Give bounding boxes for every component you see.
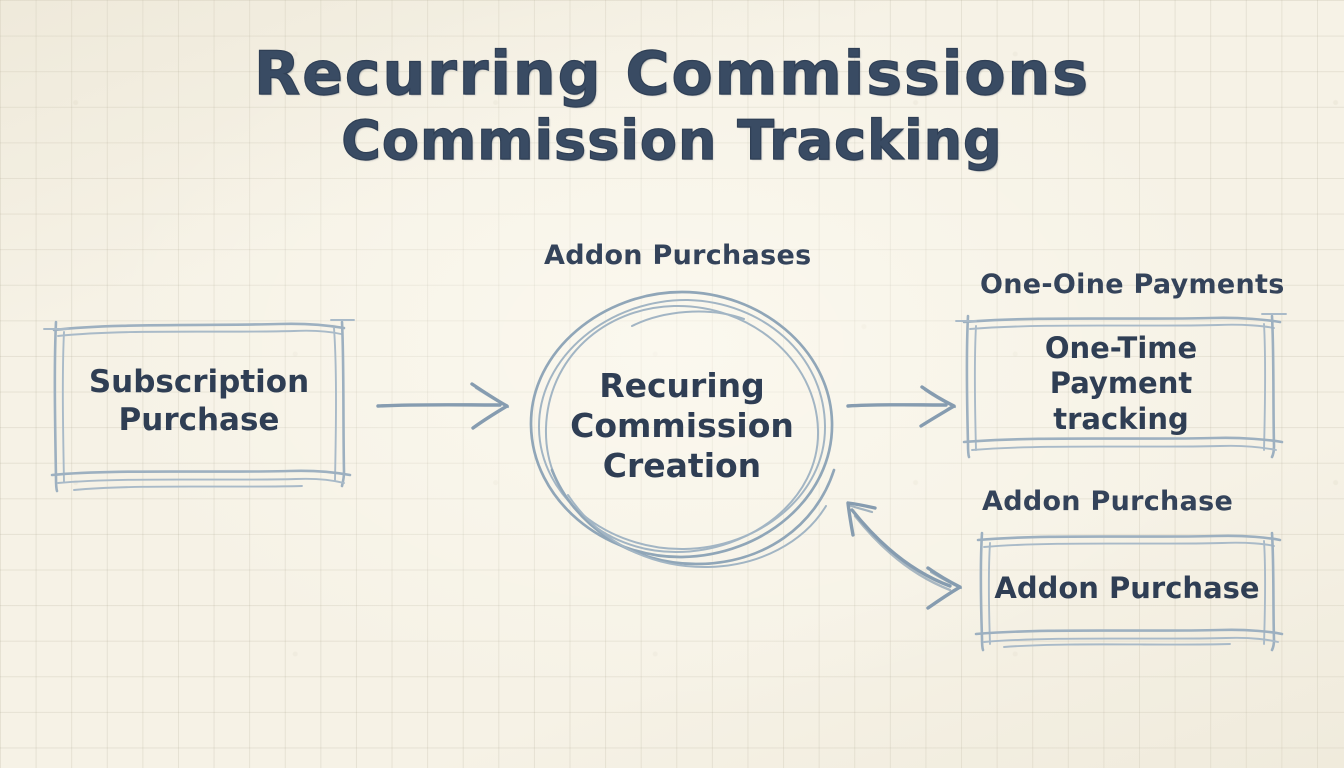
- title-line-primary: Recurring Commissions: [254, 39, 1090, 109]
- node-recurring-commission-creation-label: Recuring Commission Creation: [512, 280, 852, 572]
- caption-one-oine-payments: One-Oine Payments: [980, 269, 1285, 300]
- node-one-time-payment-tracking-label: One-Time Payment tracking: [956, 310, 1286, 458]
- caption-addon-purchases: Addon Purchases: [544, 240, 811, 271]
- arrow-recurring-to-onetime: [848, 387, 955, 426]
- node-addon-purchase-label: Addon Purchase: [968, 528, 1286, 650]
- node-one-time-payment-tracking[interactable]: One-Time Payment tracking: [956, 310, 1286, 458]
- node-subscription-purchase-label: Subscription Purchase: [44, 312, 354, 492]
- node-recurring-commission-creation[interactable]: Recuring Commission Creation: [512, 280, 852, 572]
- caption-addon-purchase: Addon Purchase: [982, 486, 1233, 517]
- node-subscription-purchase[interactable]: Subscription Purchase: [44, 312, 354, 492]
- title-line-secondary: Commission Tracking: [0, 114, 1344, 168]
- diagram-canvas: Recurring Commissions Commission Trackin…: [0, 0, 1344, 768]
- page-title: Recurring Commissions Commission Trackin…: [0, 44, 1344, 168]
- arrow-subscription-to-recurring: [378, 384, 508, 428]
- arrow-recurring-addon-bidirectional: [848, 503, 961, 608]
- node-addon-purchase[interactable]: Addon Purchase: [968, 528, 1286, 650]
